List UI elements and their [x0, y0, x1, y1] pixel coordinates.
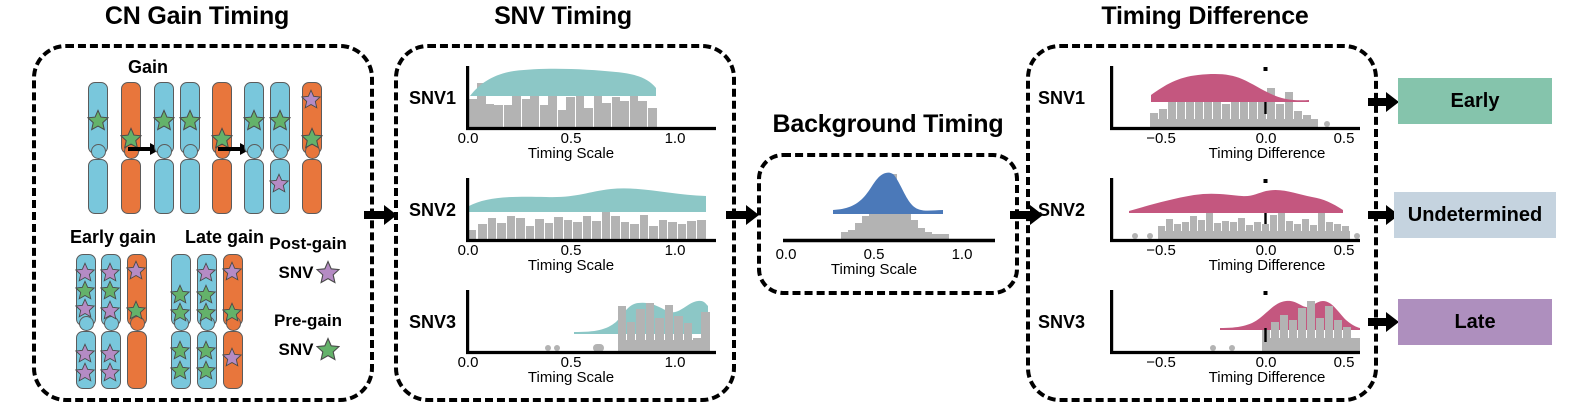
post-gain-star-icon: [100, 300, 120, 320]
snv2-timing-svg: [466, 178, 716, 250]
chromosome-q-arm: [154, 159, 174, 214]
panel-title-cn-gain: CN Gain Timing: [32, 2, 362, 31]
early-gain-label: Early gain: [58, 227, 168, 248]
pre-gain-star-icon: [170, 340, 190, 360]
post-gain-star-icon: [75, 362, 95, 382]
legend-pre-gain: Pre-gain SNV: [258, 311, 358, 360]
pre-gain-star-icon: [87, 109, 109, 131]
snv2-timing-plot: [466, 178, 716, 250]
centromere-icon: [157, 144, 172, 159]
gain-label: Gain: [88, 57, 208, 78]
centromere-icon: [183, 144, 198, 159]
pre-gain-star-icon: [170, 302, 190, 322]
flow-arrow-cn-to-snv-icon: [364, 204, 398, 226]
chromosome-q-arm: [180, 159, 200, 214]
post-gain-star-icon: [222, 347, 242, 367]
panel-title-timing-difference: Timing Difference: [1030, 2, 1380, 31]
chromosome-q-arm: [121, 159, 141, 214]
pre-gain-star-icon: [153, 109, 175, 131]
density-curve: [1129, 190, 1343, 213]
snv1-difference-svg: [1110, 66, 1360, 138]
snv-timing-row-label-3: SNV3: [409, 312, 456, 333]
snv2-difference-axis-title: Timing Difference: [1167, 257, 1367, 274]
post-gain-star-icon: [196, 262, 216, 282]
legend-post-gain-line2: SNV: [279, 263, 314, 282]
timing-difference-row-label-3: SNV3: [1038, 312, 1085, 333]
pre-gain-star-icon: [179, 109, 201, 131]
chromosome-q-arm: [212, 159, 232, 214]
post-gain-star-icon: [75, 262, 95, 282]
pre-gain-star-icon: [316, 337, 340, 361]
snv2-timing-tick-0: 0.0: [448, 242, 488, 259]
pre-gain-star-icon: [269, 109, 291, 131]
legend-post-gain: Post-gain SNV: [258, 234, 358, 283]
timing-difference-row-label-1: SNV1: [1038, 88, 1085, 109]
post-gain-star-icon: [75, 298, 95, 318]
post-gain-star-icon: [222, 261, 242, 281]
pre-gain-star-icon: [100, 280, 120, 300]
post-gain-star-icon: [126, 260, 146, 280]
pre-gain-star-icon: [301, 127, 323, 149]
snv1-timing-axis-title: Timing Scale: [491, 145, 651, 162]
legend-pre-gain-line1: Pre-gain: [274, 311, 342, 330]
chromosome-q-arm: [127, 331, 147, 389]
snv3-difference-plot: [1110, 290, 1360, 362]
pre-gain-star-icon: [196, 360, 216, 380]
outcome-undetermined[interactable]: Undetermined: [1394, 192, 1556, 238]
chromosome-q-arm: [244, 159, 264, 214]
centromere-icon: [247, 144, 262, 159]
post-gain-star-icon: [100, 343, 120, 363]
pre-gain-star-icon: [196, 340, 216, 360]
pre-gain-star-icon: [75, 280, 95, 300]
snv-timing-row-label-1: SNV1: [409, 88, 456, 109]
post-gain-star-icon: [316, 260, 340, 284]
outcome-late[interactable]: Late: [1398, 299, 1552, 345]
snv3-timing-tick-2: 1.0: [655, 354, 695, 371]
snv-timing-row-label-2: SNV2: [409, 200, 456, 221]
pre-gain-star-icon: [170, 284, 190, 304]
density-curve: [470, 69, 656, 96]
chromosome-q-arm: [302, 159, 322, 214]
post-gain-star-icon: [75, 343, 95, 363]
pre-gain-star-icon: [196, 284, 216, 304]
snv1-timing-tick-2: 1.0: [655, 130, 695, 147]
outcome-early[interactable]: Early: [1398, 78, 1552, 124]
snv2-timing-axis-title: Timing Scale: [491, 257, 651, 274]
post-gain-star-icon: [269, 173, 289, 193]
pre-gain-star-icon: [243, 109, 265, 131]
pre-gain-star-icon: [126, 300, 146, 320]
background-timing-plot: [783, 168, 995, 248]
pre-gain-star-icon: [222, 302, 242, 322]
pre-gain-star-icon: [196, 302, 216, 322]
panel-title-snv-timing: SNV Timing: [398, 2, 728, 31]
post-gain-star-icon: [100, 362, 120, 382]
centromere-icon: [79, 316, 94, 331]
flow-arrow-snv-to-background-icon: [726, 204, 760, 226]
centromere-icon: [91, 144, 106, 159]
snv2-difference-svg: [1110, 178, 1360, 250]
post-gain-star-icon: [100, 262, 120, 282]
snv2-difference-plot: [1110, 178, 1360, 250]
legend-pre-gain-line2: SNV: [279, 340, 314, 359]
post-gain-star-icon: [301, 89, 321, 109]
centromere-icon: [273, 144, 288, 159]
snv3-difference-svg: [1110, 290, 1360, 362]
background-timing-axis-title: Timing Scale: [794, 261, 954, 278]
snv1-timing-svg: [466, 66, 716, 138]
snv3-timing-axis-title: Timing Scale: [491, 369, 651, 386]
snv1-timing-tick-0: 0.0: [448, 130, 488, 147]
timing-difference-row-label-2: SNV2: [1038, 200, 1085, 221]
snv3-timing-svg: [466, 290, 716, 362]
snv1-difference-plot: [1110, 66, 1360, 138]
background-timing-svg: [783, 168, 995, 248]
panel-title-background-timing: Background Timing: [753, 110, 1023, 139]
snv2-timing-tick-2: 1.0: [655, 242, 695, 259]
legend-post-gain-line1: Post-gain: [269, 234, 346, 253]
snv3-timing-plot: [466, 290, 716, 362]
histogram-bars: [1132, 209, 1360, 240]
snv3-timing-tick-0: 0.0: [448, 354, 488, 371]
flow-arrow-to-early-icon: [1368, 91, 1400, 113]
pre-gain-star-icon: [170, 360, 190, 380]
snv1-difference-axis-title: Timing Difference: [1167, 145, 1367, 162]
snv1-timing-plot: [466, 66, 716, 138]
flow-arrow-to-late-icon: [1368, 311, 1400, 333]
chromosome-q-arm: [88, 159, 108, 214]
density-curve: [469, 188, 706, 212]
snv3-difference-axis-title: Timing Difference: [1167, 369, 1367, 386]
density-curve: [833, 173, 943, 214]
